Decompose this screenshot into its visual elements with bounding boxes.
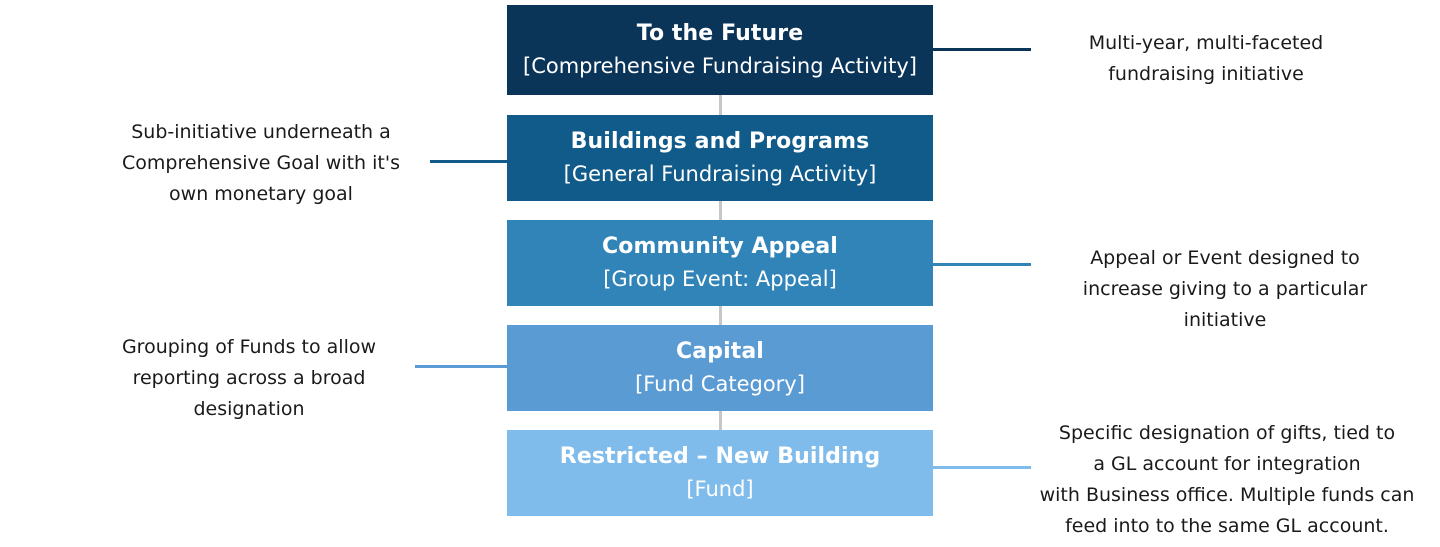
annotation-capital: Grouping of Funds to allow reporting acr… xyxy=(86,332,412,425)
diagram-canvas: To the Future [Comprehensive Fundraising… xyxy=(0,0,1440,547)
node-capital[interactable]: Capital [Fund Category] xyxy=(507,325,933,411)
node-subtitle: [Fund Category] xyxy=(635,370,805,398)
node-to-the-future[interactable]: To the Future [Comprehensive Fundraising… xyxy=(507,5,933,95)
node-title: Capital xyxy=(676,338,764,366)
annotation-buildings-and-programs: Sub-initiative underneath a Comprehensiv… xyxy=(96,117,426,210)
node-subtitle: [Group Event: Appeal] xyxy=(603,265,837,293)
node-title: Restricted – New Building xyxy=(560,443,880,471)
node-title: Buildings and Programs xyxy=(571,128,870,156)
annotation-to-the-future: Multi-year, multi-faceted fundraising in… xyxy=(1041,28,1371,90)
spine-segment-3 xyxy=(719,306,722,325)
node-title: Community Appeal xyxy=(602,233,838,261)
node-subtitle: [Fund] xyxy=(686,475,753,503)
annotation-community-appeal: Appeal or Event designed to increase giv… xyxy=(1041,243,1409,336)
node-subtitle: [General Fundraising Activity] xyxy=(564,160,877,188)
leader-line-buildings-and-programs xyxy=(430,160,509,163)
leader-line-capital xyxy=(415,365,509,368)
node-title: To the Future xyxy=(637,20,803,48)
node-restricted-new-building[interactable]: Restricted – New Building [Fund] xyxy=(507,430,933,516)
node-subtitle: [Comprehensive Fundraising Activity] xyxy=(523,52,917,80)
node-buildings-and-programs[interactable]: Buildings and Programs [General Fundrais… xyxy=(507,115,933,201)
spine-segment-2 xyxy=(719,201,722,220)
spine-segment-4 xyxy=(719,411,722,430)
leader-line-community-appeal xyxy=(933,263,1031,266)
node-community-appeal[interactable]: Community Appeal [Group Event: Appeal] xyxy=(507,220,933,306)
leader-line-to-the-future xyxy=(933,48,1031,51)
annotation-restricted-new-building: Specific designation of gifts, tied to a… xyxy=(1031,418,1423,542)
leader-line-restricted-new-building xyxy=(933,466,1031,469)
spine-segment-1 xyxy=(719,95,722,115)
